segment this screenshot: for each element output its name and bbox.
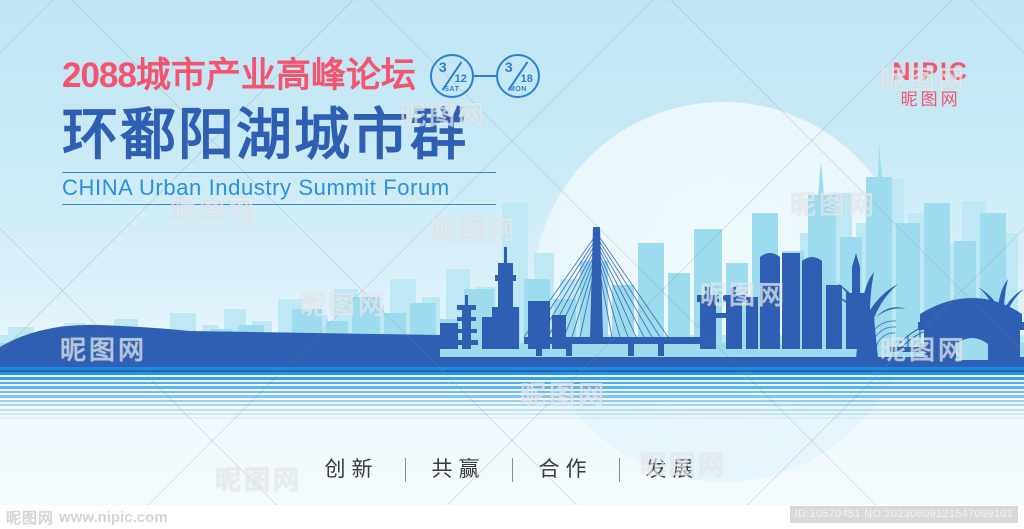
footer-brand-cn: 昵图网 — [6, 507, 54, 528]
brand-name-cn: 昵图网 — [892, 88, 969, 112]
date-month: 3 — [505, 60, 513, 74]
poster-canvas: 2088城市产业高峰论坛 3 12 SAT 3 18 MON — [0, 0, 1024, 529]
slogan-word-4: 发展 — [620, 455, 726, 485]
water-stripe — [0, 404, 1024, 406]
footer-bar: 昵图网 www.nipic.com ID:10570451 NO:2023060… — [0, 505, 1024, 529]
main-title: 环鄱阳湖城市群 — [62, 104, 582, 168]
poster-artwork: 2088城市产业高峰论坛 3 12 SAT 3 18 MON — [0, 0, 1024, 505]
water-stripe — [0, 413, 1024, 415]
footer-url: www.nipic.com — [59, 509, 168, 526]
forum-year: 2088 — [62, 56, 136, 95]
subtitle-en: CHINA Urban Industry Summit Forum — [62, 174, 496, 202]
slogan-row: 创新 共赢 合作 发展 — [0, 455, 1024, 485]
water-stripe — [0, 372, 1024, 375]
water-stripes — [0, 367, 1024, 419]
headline-top-row: 2088城市产业高峰论坛 3 12 SAT 3 18 MON — [62, 54, 582, 98]
date-badges: 3 12 SAT 3 18 MON — [430, 54, 540, 98]
water-stripe — [0, 391, 1024, 393]
water-stripe — [0, 395, 1024, 397]
date-month: 3 — [439, 60, 447, 74]
title-cn-top: 2088城市产业高峰论坛 — [62, 54, 416, 98]
slogan-word-3: 合作 — [513, 455, 619, 485]
brand-name-en: NIPIC — [892, 58, 969, 86]
footer-asset-id: ID:10570451 NO:20230609121547099101 — [790, 506, 1018, 523]
slogan-word-1: 创新 — [299, 455, 405, 485]
date-badge-start: 3 12 SAT — [430, 54, 474, 98]
headline-block: 2088城市产业高峰论坛 3 12 SAT 3 18 MON — [62, 54, 582, 205]
date-connector-line — [474, 75, 496, 77]
title-cn-top-text: 城市产业高峰论坛 — [136, 56, 416, 95]
date-weekday: MON — [498, 86, 538, 93]
date-badge-end: 3 18 MON — [496, 54, 540, 98]
date-weekday: SAT — [432, 86, 472, 93]
water-stripe — [0, 417, 1024, 419]
date-day: 12 — [455, 74, 467, 85]
subtitle-rule-wrap: CHINA Urban Industry Summit Forum — [62, 172, 496, 205]
footer-brand: 昵图网 www.nipic.com — [6, 507, 168, 528]
nipic-logo: NIPIC 昵图网 — [892, 58, 969, 112]
water-stripe — [0, 367, 1024, 370]
water-stripe — [0, 400, 1024, 402]
water-stripe — [0, 382, 1024, 384]
water-stripe — [0, 386, 1024, 388]
water-stripe — [0, 409, 1024, 411]
slogan-word-2: 共赢 — [406, 455, 512, 485]
landmarks-right — [760, 252, 1024, 372]
date-day: 18 — [521, 74, 533, 85]
water-stripe — [0, 377, 1024, 380]
